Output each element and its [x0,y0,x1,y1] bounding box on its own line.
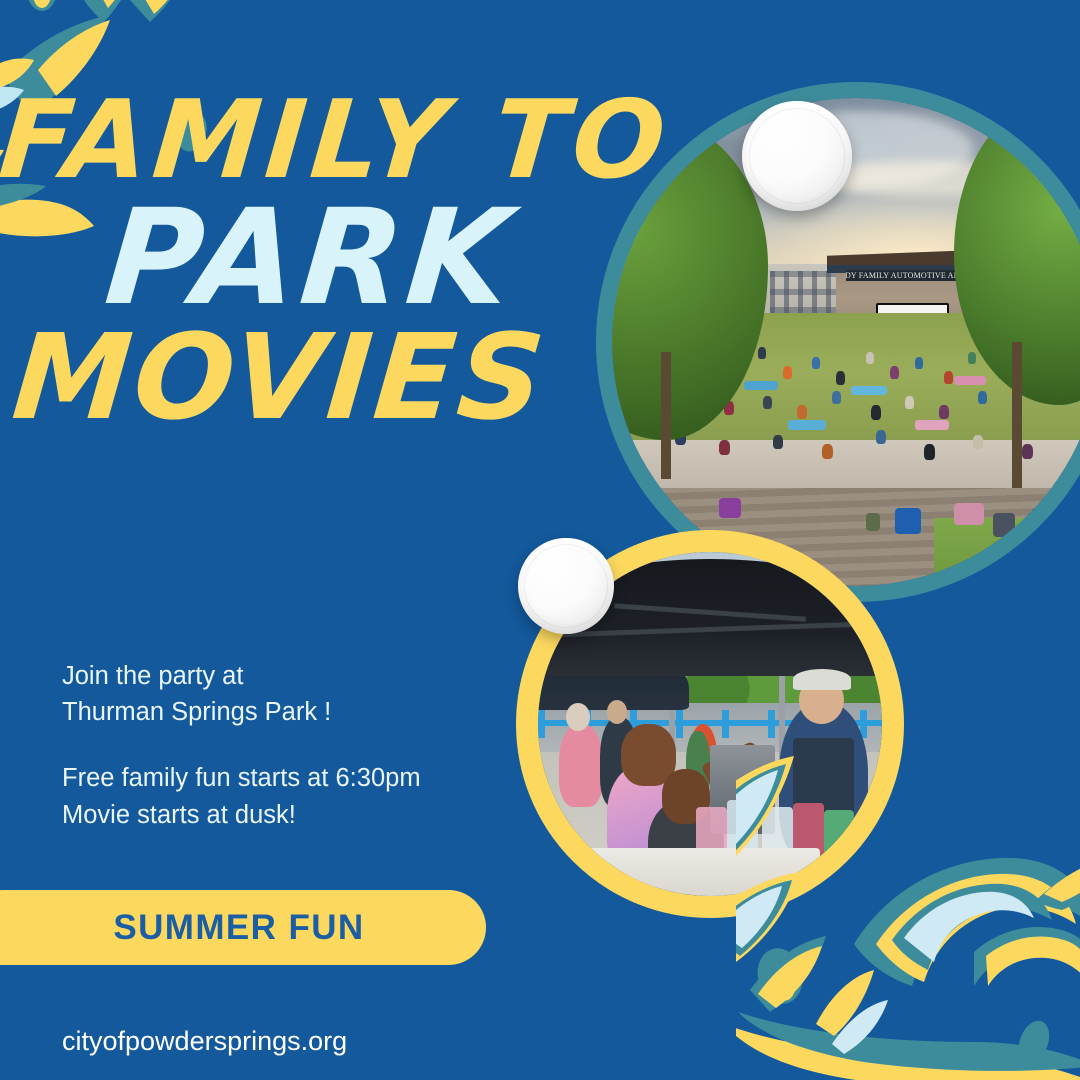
spacer [62,730,421,760]
person-head [566,703,590,731]
headline-line-3: Movies [0,328,624,427]
website-url[interactable]: cityofpowdersprings.org [62,1026,347,1057]
summer-fun-button-label: SUMMER FUN [0,908,486,948]
film-reel-disc-icon [518,538,614,634]
body-line-4: Movie starts at dusk! [62,797,421,833]
serving-table [559,848,820,896]
headline-line-2: Park [0,203,625,314]
page-title: Family to Park Movies [0,96,620,427]
tree-trunk-left [661,352,671,479]
baseball-cap [793,669,851,690]
summer-fun-button[interactable]: SUMMER FUN [0,890,486,965]
headline-line-1: Family to [0,96,624,187]
event-details: Join the party at Thurman Springs Park !… [62,658,421,833]
body-line-2: Thurman Springs Park ! [62,694,421,730]
body-line-3: Free family fun starts at 6:30pm [62,760,421,796]
tree-trunk-right [1012,342,1022,488]
syrup-jug [824,810,855,875]
body-line-1: Join the party at [62,658,421,694]
person [559,724,604,807]
film-reel-disc-icon [742,101,852,211]
event-flyer: HARDY FAMILY AUTOMOTIVE AMPHITHEATER [0,0,1080,1080]
